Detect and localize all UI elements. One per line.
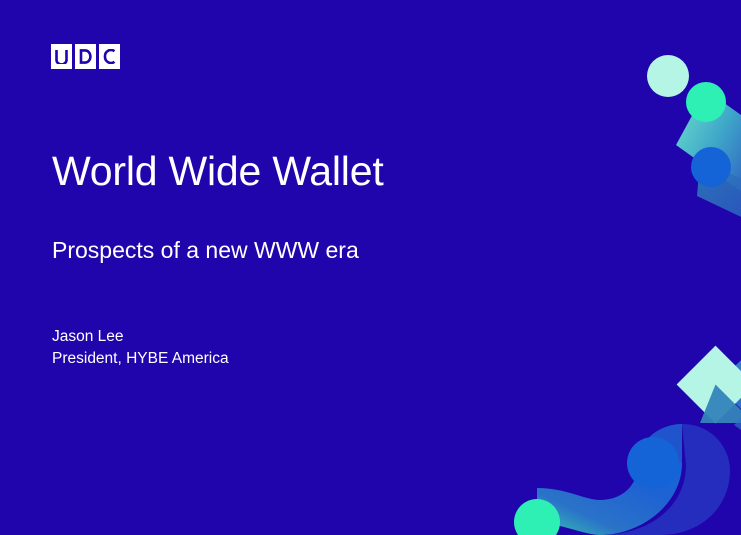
udc-logo xyxy=(51,44,120,69)
letter-c-icon xyxy=(103,49,116,64)
presentation-slide: World Wide Wallet Prospects of a new WWW… xyxy=(0,0,741,535)
logo-letter-d-tile xyxy=(75,44,96,69)
logo-letter-c-tile xyxy=(99,44,120,69)
presenter-block: Jason Lee President, HYBE America xyxy=(52,326,229,370)
diamond-group-right xyxy=(677,345,741,425)
blue-circle-bottom-right xyxy=(627,437,679,489)
blue-circle-top-right xyxy=(691,147,731,187)
presenter-role: President, HYBE America xyxy=(52,348,229,370)
teal-triangle-overlay-right xyxy=(700,385,741,424)
corner-sliver-bottom-right xyxy=(734,418,741,430)
pale-mint-diamond-right xyxy=(677,346,741,424)
decorative-graphics xyxy=(0,0,741,535)
curved-swoosh-bottom-right xyxy=(537,424,730,535)
letter-d-icon xyxy=(79,49,92,64)
gradient-band-top-right xyxy=(676,90,741,245)
letter-u-icon xyxy=(55,49,68,64)
presenter-name: Jason Lee xyxy=(52,326,229,348)
page-title: World Wide Wallet xyxy=(52,150,384,193)
green-circle-top-right xyxy=(686,82,726,122)
pale-mint-circle-top-right xyxy=(647,55,689,97)
title-text-block: World Wide Wallet Prospects of a new WWW… xyxy=(52,150,384,193)
teal-triangle-right xyxy=(716,345,741,425)
slide-subtitle: Prospects of a new WWW era xyxy=(52,238,359,263)
green-circle-bottom xyxy=(514,499,560,535)
logo-letter-u-tile xyxy=(51,44,72,69)
